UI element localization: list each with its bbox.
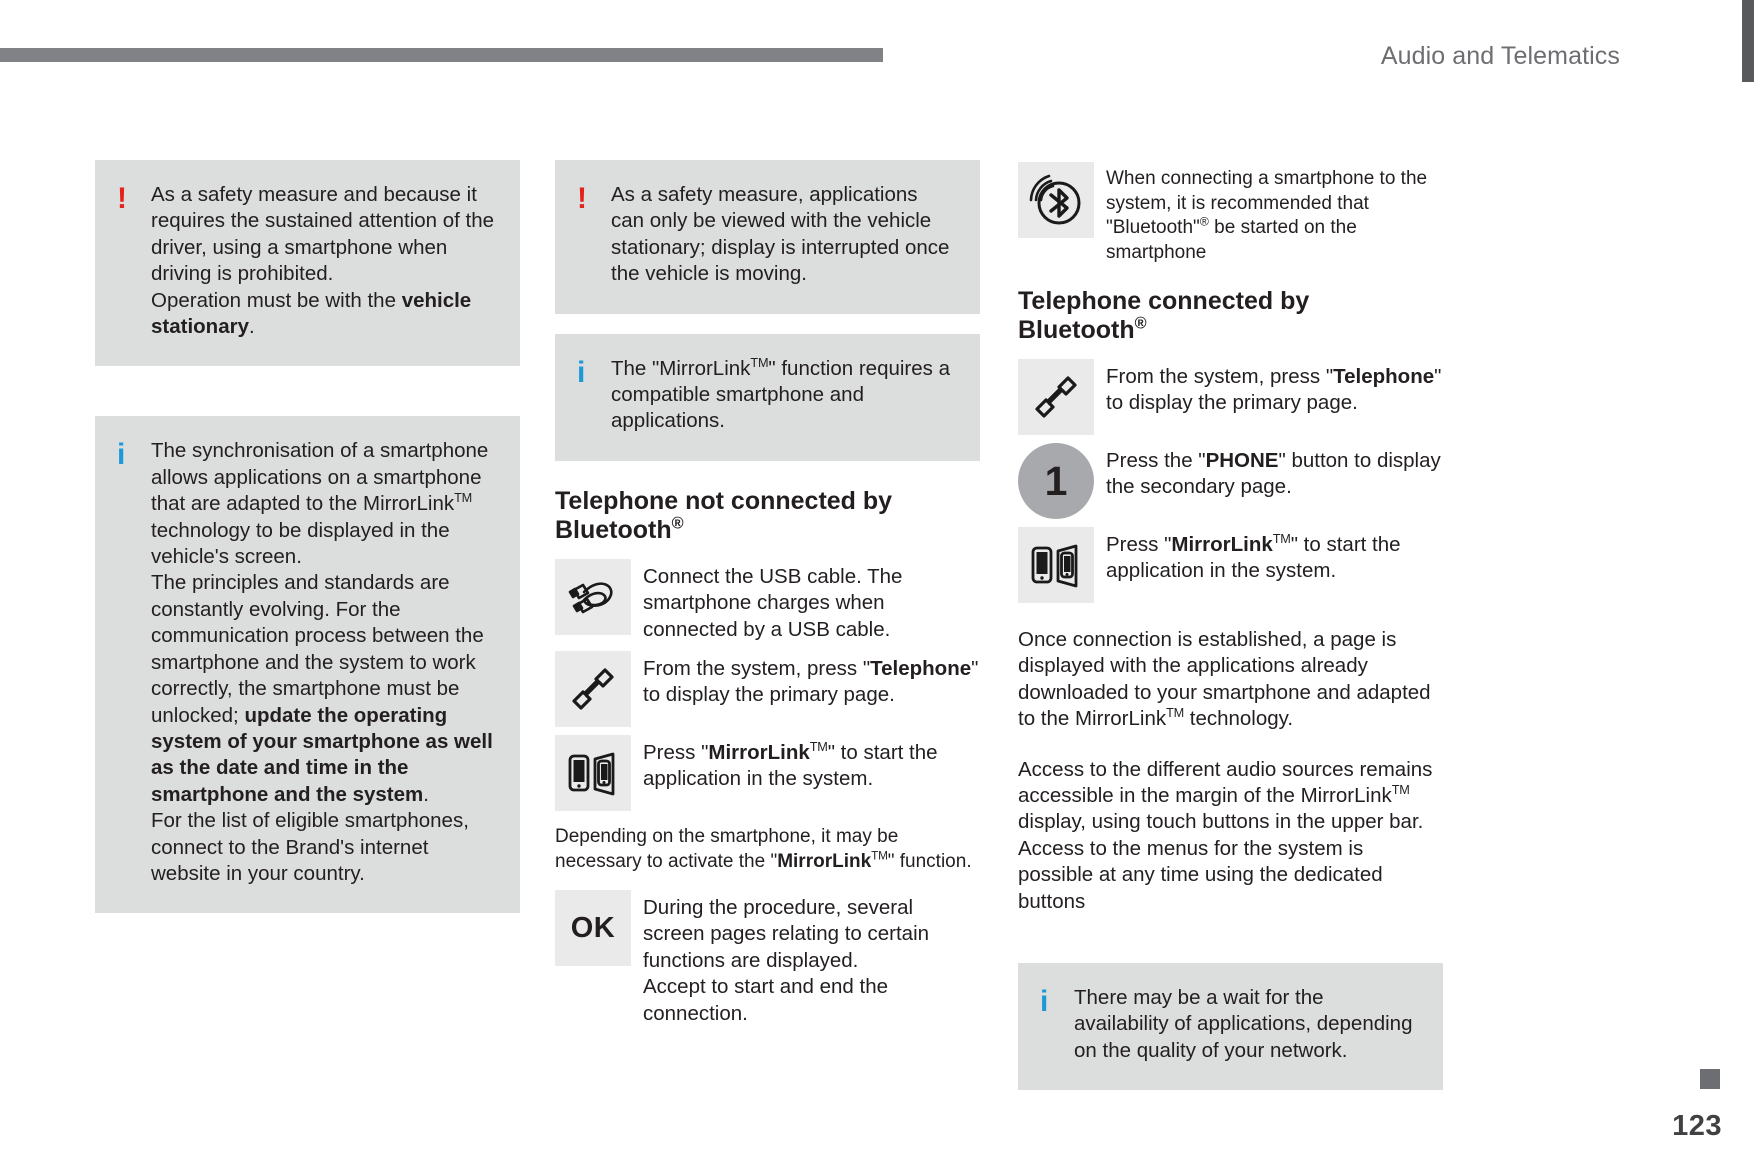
warning-icon: ! (577, 182, 611, 214)
applications-warning-notice: ! As a safety measure, applications can … (555, 160, 980, 314)
mirrorlink-requirement-text: The "MirrorLinkTM" function requires a c… (611, 356, 956, 435)
ok-line1: During the procedure, several screen pag… (643, 896, 929, 972)
step-accept-ok: OK During the procedure, several screen … (555, 890, 980, 1027)
mirrorlink-phones-icon (555, 735, 631, 811)
safety-warning-line2-prefix: Operation must be with the (151, 289, 402, 312)
step-press-phone-button-text: Press the "PHONE" button to display the … (1106, 443, 1443, 501)
header-rule (0, 48, 883, 62)
step-connect-usb-text: Connect the USB cable. The smartphone ch… (643, 559, 980, 643)
bluetooth-wireless-icon (1018, 162, 1094, 238)
bluetooth-recommendation-text: When connecting a smartphone to the syst… (1106, 162, 1443, 265)
column-two: ! As a safety measure, applications can … (555, 160, 980, 1035)
telephone-handset-icon (555, 651, 631, 727)
heading-text: Telephone not connected by Bluetooth (555, 487, 892, 544)
c3-step2-bold: PHONE (1206, 449, 1279, 472)
ok-line2: Accept to start and end the connection. (643, 975, 888, 1024)
trademark-mark: TM (871, 849, 888, 862)
availability-info-notice: i There may be a wait for the availabili… (1018, 963, 1443, 1090)
registered-mark: ® (1200, 215, 1209, 229)
audio-a: Access to the different audio sources re… (1018, 758, 1432, 807)
c3-step1-a: From the system, press " (1106, 365, 1333, 388)
safety-warning-notice: ! As a safety measure and because it req… (95, 160, 520, 366)
audio-sources-paragraph: Access to the different audio sources re… (1018, 757, 1443, 915)
step-press-telephone: From the system, press "Telephone" to di… (555, 651, 980, 727)
column-one: ! As a safety measure and because it req… (95, 160, 520, 933)
safety-warning-line1: As a safety measure and because it requi… (151, 183, 494, 285)
synchronisation-info-notice: i The synchronisation of a smartphone al… (95, 416, 520, 913)
step-accept-ok-text: During the procedure, several screen pag… (643, 890, 980, 1027)
ok-label: OK (571, 912, 616, 945)
sync-p2-b: . (423, 783, 429, 806)
step-press-phone-button: 1 Press the "PHONE" button to display th… (1018, 443, 1443, 519)
safety-warning-line2-suffix: . (249, 315, 255, 338)
step-press-mirrorlink-text: Press "MirrorLinkTM" to start the applic… (643, 735, 980, 793)
number-one-label: 1 (1018, 443, 1094, 519)
c3-step3-a: Press " (1106, 533, 1171, 556)
edge-marker-bar (1742, 0, 1754, 82)
c3-step1-bold: Telephone (1333, 365, 1434, 388)
synchronisation-info-text: The synchronisation of a smartphone allo… (151, 438, 496, 887)
mirrorlink-requirement-notice: i The "MirrorLinkTM" function requires a… (555, 334, 980, 461)
step3-a: Press " (643, 741, 708, 764)
step-connect-usb: Connect the USB cable. The smartphone ch… (555, 559, 980, 643)
info-icon: i (577, 356, 611, 388)
heading-telephone-not-connected: Telephone not connected by Bluetooth® (555, 487, 980, 545)
step-press-telephone-text: From the system, press "Telephone" to di… (643, 651, 980, 709)
step2-a: From the system, press " (643, 657, 870, 680)
heading-text: Telephone connected by Bluetooth (1018, 287, 1309, 344)
step2-bold: Telephone (870, 657, 971, 680)
activate-b: " function. (888, 851, 972, 872)
activate-mirrorlink-paragraph: Depending on the smartphone, it may be n… (555, 825, 980, 874)
trademark-mark: TM (810, 739, 828, 754)
trademark-mark: TM (750, 355, 768, 370)
info-icon: i (1040, 985, 1074, 1017)
info-icon: i (117, 438, 151, 470)
heading-telephone-connected: Telephone connected by Bluetooth® (1018, 287, 1443, 345)
warning-icon: ! (117, 182, 151, 214)
column-three: When connecting a smartphone to the syst… (1018, 162, 1443, 1110)
registered-mark: ® (1135, 315, 1147, 333)
step-press-mirrorlink-connected-text: Press "MirrorLinkTM" to start the applic… (1106, 527, 1443, 585)
mirrorlink-phones-icon (1018, 527, 1094, 603)
step-press-mirrorlink: Press "MirrorLinkTM" to start the applic… (555, 735, 980, 811)
sync-p1-b: technology to be displayed in the vehicl… (151, 519, 450, 568)
ok-confirm-icon: OK (555, 890, 631, 966)
page-marker-square (1700, 1069, 1720, 1089)
connection-established-paragraph: Once connection is established, a page i… (1018, 627, 1443, 733)
step-press-telephone-connected: From the system, press "Telephone" to di… (1018, 359, 1443, 435)
c3-step2-a: Press the " (1106, 449, 1206, 472)
step-bluetooth-recommendation: When connecting a smartphone to the syst… (1018, 162, 1443, 265)
step3-bold: MirrorLink (708, 741, 809, 764)
page-number: 123 (1672, 1110, 1722, 1143)
safety-warning-text: As a safety measure and because it requi… (151, 182, 496, 340)
telephone-handset-icon (1018, 359, 1094, 435)
trademark-mark: TM (454, 490, 472, 505)
trademark-mark: TM (1392, 782, 1410, 797)
step-press-mirrorlink-connected: Press "MirrorLinkTM" to start the applic… (1018, 527, 1443, 603)
audio-b: display, using touch buttons in the uppe… (1018, 810, 1423, 912)
applications-warning-text: As a safety measure, applications can on… (611, 182, 956, 288)
number-one-circle-icon: 1 (1018, 443, 1094, 519)
conn-b: technology. (1184, 707, 1293, 730)
activate-bold: MirrorLink (777, 851, 871, 872)
mlreq-a: The "MirrorLink (611, 357, 750, 380)
availability-info-text: There may be a wait for the availability… (1074, 985, 1419, 1064)
sync-p3: For the list of eligible smartphones, co… (151, 809, 469, 885)
sync-p1-a: The synchronisation of a smartphone allo… (151, 439, 488, 515)
c3-step3-bold: MirrorLink (1171, 533, 1272, 556)
usb-cable-icon (555, 559, 631, 635)
registered-mark: ® (672, 515, 684, 533)
trademark-mark: TM (1166, 705, 1184, 720)
page-title: Audio and Telematics (1000, 42, 1620, 71)
trademark-mark: TM (1273, 531, 1291, 546)
step-press-telephone-connected-text: From the system, press "Telephone" to di… (1106, 359, 1443, 417)
